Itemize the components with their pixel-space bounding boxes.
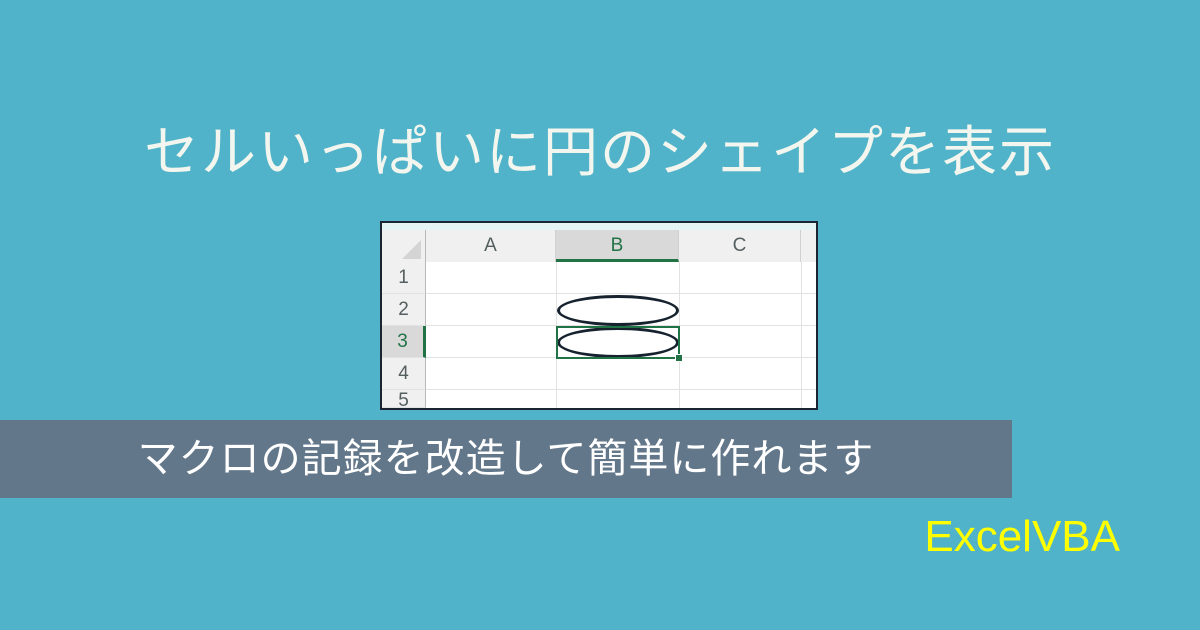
row-header-5[interactable]: 5	[382, 390, 426, 408]
row-header-4[interactable]: 4	[382, 358, 426, 390]
screenshot-top-strip	[382, 223, 816, 230]
gridline-horizontal	[426, 389, 816, 390]
fill-handle[interactable]	[675, 354, 683, 362]
gridline-horizontal	[426, 293, 816, 294]
column-header-a-label: A	[484, 235, 497, 256]
page-title: セルいっぱいに円のシェイプを表示	[0, 117, 1200, 187]
excelvba-badge: ExcelVBA	[924, 512, 1120, 562]
cell-area[interactable]	[426, 262, 816, 408]
select-all-corner[interactable]	[382, 230, 426, 262]
gridline-vertical	[801, 262, 802, 408]
row-header-1-label: 1	[398, 267, 409, 288]
banner: セルいっぱいに円のシェイプを表示 A B C 1	[0, 0, 1200, 630]
column-header-d-partial[interactable]	[801, 230, 816, 262]
column-header-a[interactable]: A	[426, 230, 556, 262]
row-header-2[interactable]: 2	[382, 294, 426, 326]
row-header-3[interactable]: 3	[382, 326, 426, 358]
column-header-c[interactable]: C	[679, 230, 801, 262]
column-header-c-label: C	[733, 235, 747, 256]
row-header-4-label: 4	[398, 363, 409, 384]
row-header-1[interactable]: 1	[382, 262, 426, 294]
subtitle-bar: マクロの記録を改造して簡単に作れます	[0, 420, 1012, 498]
row-header-2-label: 2	[398, 299, 409, 320]
row-header-5-label: 5	[398, 390, 409, 408]
spreadsheet-grid: A B C 1 2 3 4 5	[382, 230, 816, 408]
excel-screenshot: A B C 1 2 3 4 5	[380, 221, 818, 410]
subtitle-text: マクロの記録を改造して簡単に作れます	[0, 420, 1012, 498]
column-header-b[interactable]: B	[556, 230, 679, 262]
column-header-b-label: B	[611, 235, 624, 256]
active-cell-selection-b3[interactable]	[556, 326, 680, 359]
ellipse-shape-b2[interactable]	[557, 295, 679, 326]
row-header-3-label: 3	[397, 331, 408, 352]
select-all-triangle-icon	[402, 240, 421, 259]
